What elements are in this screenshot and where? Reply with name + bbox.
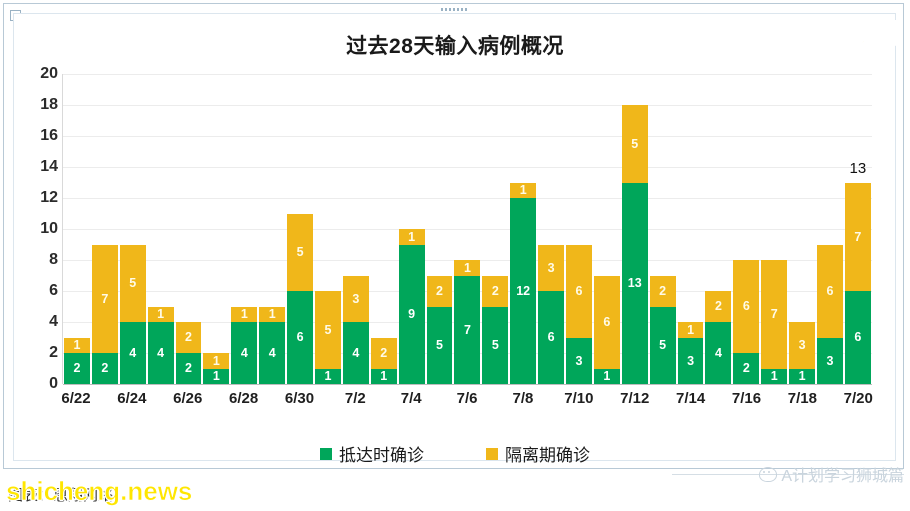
bar-segment-value: 2 xyxy=(715,300,722,313)
bar-column[interactable]: 56 xyxy=(286,74,314,384)
x-axis-cell: 6/28 xyxy=(230,390,258,414)
bar-column[interactable]: 21 xyxy=(370,74,398,384)
x-axis-cell: 7/2 xyxy=(341,390,369,414)
bar-segment-arrival[interactable]: 3 xyxy=(566,338,592,385)
x-axis-label: 7/4 xyxy=(401,390,422,407)
bar-total-annotation: 13 xyxy=(850,160,867,177)
bar-segment-quarantine[interactable]: 1 xyxy=(148,307,174,323)
x-axis-cell: 7/20 xyxy=(844,390,872,414)
bar-segment-value: 4 xyxy=(352,347,359,360)
bar-segment-value: 7 xyxy=(854,231,861,244)
bar-series-group: 1272541422111414565134211925172511236636… xyxy=(63,74,872,384)
bar-segment-arrival[interactable]: 6 xyxy=(538,291,564,384)
bar-segment-quarantine[interactable]: 7 xyxy=(761,260,787,369)
x-axis-label: 7/18 xyxy=(788,390,817,407)
bar-segment-value: 1 xyxy=(380,370,387,383)
bar-column[interactable]: 72 xyxy=(91,74,119,384)
bar-segment-arrival[interactable]: 6 xyxy=(287,291,313,384)
bar-segment-arrival[interactable]: 1 xyxy=(789,369,815,385)
bar-segment-arrival[interactable]: 1 xyxy=(594,369,620,385)
bar-segment-quarantine[interactable]: 2 xyxy=(427,276,453,307)
bar-segment-arrival[interactable]: 13 xyxy=(622,183,648,385)
bar-segment-value: 1 xyxy=(241,308,248,321)
bar-segment-quarantine[interactable]: 2 xyxy=(482,276,508,307)
watermark-bottom-left: shicheng.news xyxy=(6,476,192,507)
bar-segment-arrival[interactable]: 5 xyxy=(427,307,453,385)
bar-segment-value: 5 xyxy=(129,277,136,290)
bar-column[interactable]: 54 xyxy=(119,74,147,384)
bar-segment-value: 1 xyxy=(213,370,220,383)
bar-segment-value: 3 xyxy=(827,355,834,368)
bar-column[interactable]: 513 xyxy=(621,74,649,384)
bar-segment-quarantine[interactable]: 1 xyxy=(510,183,536,199)
x-axis-cell: 6/22 xyxy=(62,390,90,414)
bar-segment-value: 1 xyxy=(408,231,415,244)
wechat-account-name: A计划学习狮城篇 xyxy=(781,462,904,486)
plot-area: 02468101214161820 1272541422111414565134… xyxy=(62,74,872,384)
y-tick-4: 4 xyxy=(16,313,58,331)
x-axis-cell xyxy=(649,390,677,414)
bar-segment-arrival[interactable]: 4 xyxy=(231,322,257,384)
x-axis-label: 7/8 xyxy=(513,390,534,407)
bar-segment-quarantine[interactable]: 3 xyxy=(789,322,815,369)
x-axis-cell: 6/26 xyxy=(174,390,202,414)
bar-segment-quarantine[interactable]: 3 xyxy=(538,245,564,292)
bar-segment-quarantine[interactable]: 1 xyxy=(678,322,704,338)
x-axis-label: 7/10 xyxy=(564,390,593,407)
bar-segment-quarantine[interactable]: 2 xyxy=(705,291,731,322)
x-axis-label: 6/22 xyxy=(61,390,90,407)
y-tick-8: 8 xyxy=(16,251,58,269)
bar-column[interactable]: 34 xyxy=(342,74,370,384)
y-tick-16: 16 xyxy=(16,127,58,145)
x-axis-cell xyxy=(369,390,397,414)
bar-segment-value: 6 xyxy=(603,316,610,329)
bar-segment-value: 9 xyxy=(408,308,415,321)
bar-segment-quarantine[interactable]: 6 xyxy=(817,245,843,338)
bar-segment-arrival[interactable]: 7 xyxy=(454,276,480,385)
bar-column[interactable]: 62 xyxy=(732,74,760,384)
bar-segment-arrival[interactable]: 9 xyxy=(399,245,425,385)
x-axis-cell xyxy=(146,390,174,414)
bar-column[interactable]: 51 xyxy=(314,74,342,384)
bar-column[interactable]: 17 xyxy=(453,74,481,384)
x-axis-cell: 7/18 xyxy=(788,390,816,414)
bar-segment-quarantine[interactable]: 6 xyxy=(733,260,759,353)
bar-segment-value: 5 xyxy=(324,324,331,337)
bar-segment-value: 6 xyxy=(827,285,834,298)
bar-column[interactable]: 19 xyxy=(398,74,426,384)
bar-segment-value: 4 xyxy=(269,347,276,360)
bar-segment-value: 1 xyxy=(520,184,527,197)
bar-segment-value: 2 xyxy=(436,285,443,298)
x-axis-label: 6/30 xyxy=(285,390,314,407)
bar-segment-value: 1 xyxy=(324,370,331,383)
bar-segment-arrival[interactable]: 4 xyxy=(343,322,369,384)
x-axis-cell: 7/10 xyxy=(565,390,593,414)
y-tick-20: 20 xyxy=(16,65,58,83)
x-axis-label: 7/14 xyxy=(676,390,705,407)
bar-segment-arrival[interactable]: 3 xyxy=(817,338,843,385)
x-axis-label: 6/28 xyxy=(229,390,258,407)
bar-segment-quarantine[interactable]: 5 xyxy=(622,105,648,183)
y-tick-10: 10 xyxy=(16,220,58,238)
bar-segment-value: 5 xyxy=(659,339,666,352)
bar-segment-arrival[interactable]: 3 xyxy=(678,338,704,385)
x-axis-label: 7/6 xyxy=(457,390,478,407)
bar-segment-value: 4 xyxy=(241,347,248,360)
legend-swatch-icon xyxy=(320,448,332,460)
bar-segment-value: 5 xyxy=(436,339,443,352)
bar-segment-value: 1 xyxy=(464,262,471,275)
x-axis-cell: 6/24 xyxy=(118,390,146,414)
bar-segment-value: 2 xyxy=(185,331,192,344)
bar-segment-value: 1 xyxy=(771,370,778,383)
bar-segment-value: 6 xyxy=(297,331,304,344)
bar-segment-value: 7 xyxy=(464,324,471,337)
y-tick-2: 2 xyxy=(16,344,58,362)
bar-segment-arrival[interactable]: 2 xyxy=(92,353,118,384)
x-axis-cell xyxy=(425,390,453,414)
bar-segment-quarantine[interactable]: 5 xyxy=(315,291,341,369)
bar-segment-value: 6 xyxy=(576,285,583,298)
bar-segment-quarantine[interactable]: 1 xyxy=(231,307,257,323)
bar-segment-value: 1 xyxy=(213,355,220,368)
bar-segment-arrival[interactable]: 2 xyxy=(176,353,202,384)
bar-column[interactable]: 36 xyxy=(537,74,565,384)
bar-segment-value: 13 xyxy=(628,277,642,290)
bar-segment-value: 6 xyxy=(548,331,555,344)
bar-segment-value: 1 xyxy=(603,370,610,383)
bar-column[interactable]: 112 xyxy=(509,74,537,384)
bar-segment-value: 3 xyxy=(687,355,694,368)
bar-column[interactable]: 11 xyxy=(202,74,230,384)
y-tick-18: 18 xyxy=(16,96,58,114)
bar-segment-quarantine[interactable]: 2 xyxy=(176,322,202,353)
bar-segment-quarantine[interactable]: 2 xyxy=(650,276,676,307)
x-axis-cell: 7/14 xyxy=(677,390,705,414)
legend-swatch-icon xyxy=(486,448,498,460)
bar-segment-arrival[interactable]: 1 xyxy=(203,369,229,385)
bar-column[interactable]: 14 xyxy=(258,74,286,384)
bar-segment-value: 5 xyxy=(297,246,304,259)
bar-segment-value: 4 xyxy=(129,347,136,360)
legend-item-arrival[interactable]: 抵达时确诊 xyxy=(320,441,424,466)
bar-segment-arrival[interactable]: 4 xyxy=(705,322,731,384)
bar-column[interactable]: 31 xyxy=(788,74,816,384)
bar-segment-arrival[interactable]: 5 xyxy=(650,307,676,385)
x-axis-label: 7/16 xyxy=(732,390,761,407)
bar-segment-quarantine[interactable]: 2 xyxy=(371,338,397,369)
bar-segment-value: 2 xyxy=(73,362,80,375)
bar-segment-quarantine[interactable]: 5 xyxy=(120,245,146,323)
bar-segment-arrival[interactable]: 1 xyxy=(371,369,397,385)
x-axis-cell xyxy=(90,390,118,414)
x-axis-cell: 7/8 xyxy=(509,390,537,414)
bar-column[interactable]: 71 xyxy=(760,74,788,384)
bar-segment-value: 2 xyxy=(380,347,387,360)
bar-segment-quarantine[interactable]: 1 xyxy=(454,260,480,276)
x-axis-cell xyxy=(258,390,286,414)
bar-segment-quarantine[interactable]: 1 xyxy=(203,353,229,369)
x-axis-cell xyxy=(202,390,230,414)
bar-segment-value: 2 xyxy=(185,362,192,375)
y-tick-6: 6 xyxy=(16,282,58,300)
frame-top-marker xyxy=(441,8,467,11)
chart-plot: 02468101214161820 1272541422111414565134… xyxy=(62,74,872,384)
x-axis-cell xyxy=(705,390,733,414)
bar-segment-value: 5 xyxy=(492,339,499,352)
bar-column[interactable]: 12 xyxy=(63,74,91,384)
bar-segment-arrival[interactable]: 4 xyxy=(120,322,146,384)
x-axis-label: 7/2 xyxy=(345,390,366,407)
bar-segment-value: 6 xyxy=(854,331,861,344)
x-axis-label: 7/20 xyxy=(844,390,873,407)
bar-segment-quarantine[interactable]: 7 xyxy=(92,245,118,354)
bar-column[interactable]: 14 xyxy=(147,74,175,384)
bar-segment-value: 6 xyxy=(743,300,750,313)
x-axis-cell: 6/30 xyxy=(286,390,314,414)
wechat-icon xyxy=(759,467,777,482)
bar-segment-arrival[interactable]: 4 xyxy=(148,322,174,384)
bar-segment-quarantine[interactable]: 3 xyxy=(343,276,369,323)
bar-segment-value: 3 xyxy=(352,293,359,306)
bar-segment-value: 3 xyxy=(548,262,555,275)
wechat-footer: A计划学习狮城篇 xyxy=(759,462,904,486)
bar-segment-value: 2 xyxy=(101,362,108,375)
bar-segment-value: 7 xyxy=(101,293,108,306)
bar-segment-value: 7 xyxy=(771,308,778,321)
y-tick-14: 14 xyxy=(16,158,58,176)
bar-column[interactable]: 22 xyxy=(175,74,203,384)
x-axis-labels: 6/226/246/266/286/307/27/47/67/87/107/12… xyxy=(62,390,872,414)
gridline-0 xyxy=(63,384,872,385)
bar-segment-arrival[interactable]: 12 xyxy=(510,198,536,384)
y-tick-12: 12 xyxy=(16,189,58,207)
x-axis-cell xyxy=(313,390,341,414)
bar-segment-arrival[interactable]: 2 xyxy=(64,353,90,384)
x-axis-cell xyxy=(481,390,509,414)
bar-segment-quarantine[interactable]: 1 xyxy=(399,229,425,245)
bar-segment-arrival[interactable]: 1 xyxy=(315,369,341,385)
x-axis-label: 7/12 xyxy=(620,390,649,407)
bar-segment-value: 3 xyxy=(799,339,806,352)
bar-column[interactable]: 25 xyxy=(426,74,454,384)
x-axis-cell xyxy=(816,390,844,414)
x-axis-label: 6/26 xyxy=(173,390,202,407)
bar-column[interactable]: 14 xyxy=(230,74,258,384)
legend-label: 隔离期确诊 xyxy=(505,441,590,466)
bar-column[interactable]: 63 xyxy=(565,74,593,384)
x-axis-cell xyxy=(537,390,565,414)
bar-segment-value: 12 xyxy=(516,285,530,298)
bar-column[interactable]: 13 xyxy=(677,74,705,384)
x-axis-cell: 7/16 xyxy=(733,390,761,414)
x-axis-cell: 7/6 xyxy=(453,390,481,414)
bar-segment-value: 2 xyxy=(492,285,499,298)
y-tick-0: 0 xyxy=(16,375,58,393)
bar-segment-quarantine[interactable]: 6 xyxy=(594,276,620,369)
bar-segment-value: 5 xyxy=(631,138,638,151)
bar-column[interactable]: 61 xyxy=(593,74,621,384)
legend-item-quarantine[interactable]: 隔离期确诊 xyxy=(486,441,590,466)
bar-column[interactable]: 24 xyxy=(704,74,732,384)
bar-segment-value: 4 xyxy=(157,347,164,360)
x-axis-label: 6/24 xyxy=(117,390,146,407)
bar-column[interactable]: 1376 xyxy=(844,74,872,384)
bar-segment-value: 1 xyxy=(157,308,164,321)
bar-segment-quarantine[interactable]: 6 xyxy=(566,245,592,338)
bar-segment-value: 1 xyxy=(73,339,80,352)
bar-segment-arrival[interactable]: 4 xyxy=(259,322,285,384)
bar-segment-quarantine[interactable]: 5 xyxy=(287,214,313,292)
bar-segment-value: 2 xyxy=(659,285,666,298)
bar-segment-value: 1 xyxy=(799,370,806,383)
bar-segment-arrival[interactable]: 6 xyxy=(845,291,871,384)
bar-segment-value: 3 xyxy=(576,355,583,368)
chart-title: 过去28天输入病例概况 xyxy=(0,30,910,60)
x-axis-cell xyxy=(593,390,621,414)
bar-segment-value: 4 xyxy=(715,347,722,360)
bar-column[interactable]: 25 xyxy=(649,74,677,384)
x-axis-cell: 7/4 xyxy=(397,390,425,414)
x-axis-cell xyxy=(760,390,788,414)
bar-segment-arrival[interactable]: 2 xyxy=(733,353,759,384)
x-axis-cell: 7/12 xyxy=(621,390,649,414)
bar-segment-arrival[interactable]: 5 xyxy=(482,307,508,385)
bar-segment-quarantine[interactable]: 1 xyxy=(259,307,285,323)
bar-column[interactable]: 63 xyxy=(816,74,844,384)
bar-segment-value: 2 xyxy=(743,362,750,375)
watermark-top-right: 狮城新闻 xyxy=(800,14,900,50)
bar-segment-quarantine[interactable]: 7 xyxy=(845,183,871,292)
bar-segment-quarantine[interactable]: 1 xyxy=(64,338,90,354)
bar-column[interactable]: 25 xyxy=(481,74,509,384)
bar-segment-arrival[interactable]: 1 xyxy=(761,369,787,385)
bar-segment-value: 1 xyxy=(269,308,276,321)
bar-segment-value: 1 xyxy=(687,324,694,337)
legend-label: 抵达时确诊 xyxy=(339,441,424,466)
